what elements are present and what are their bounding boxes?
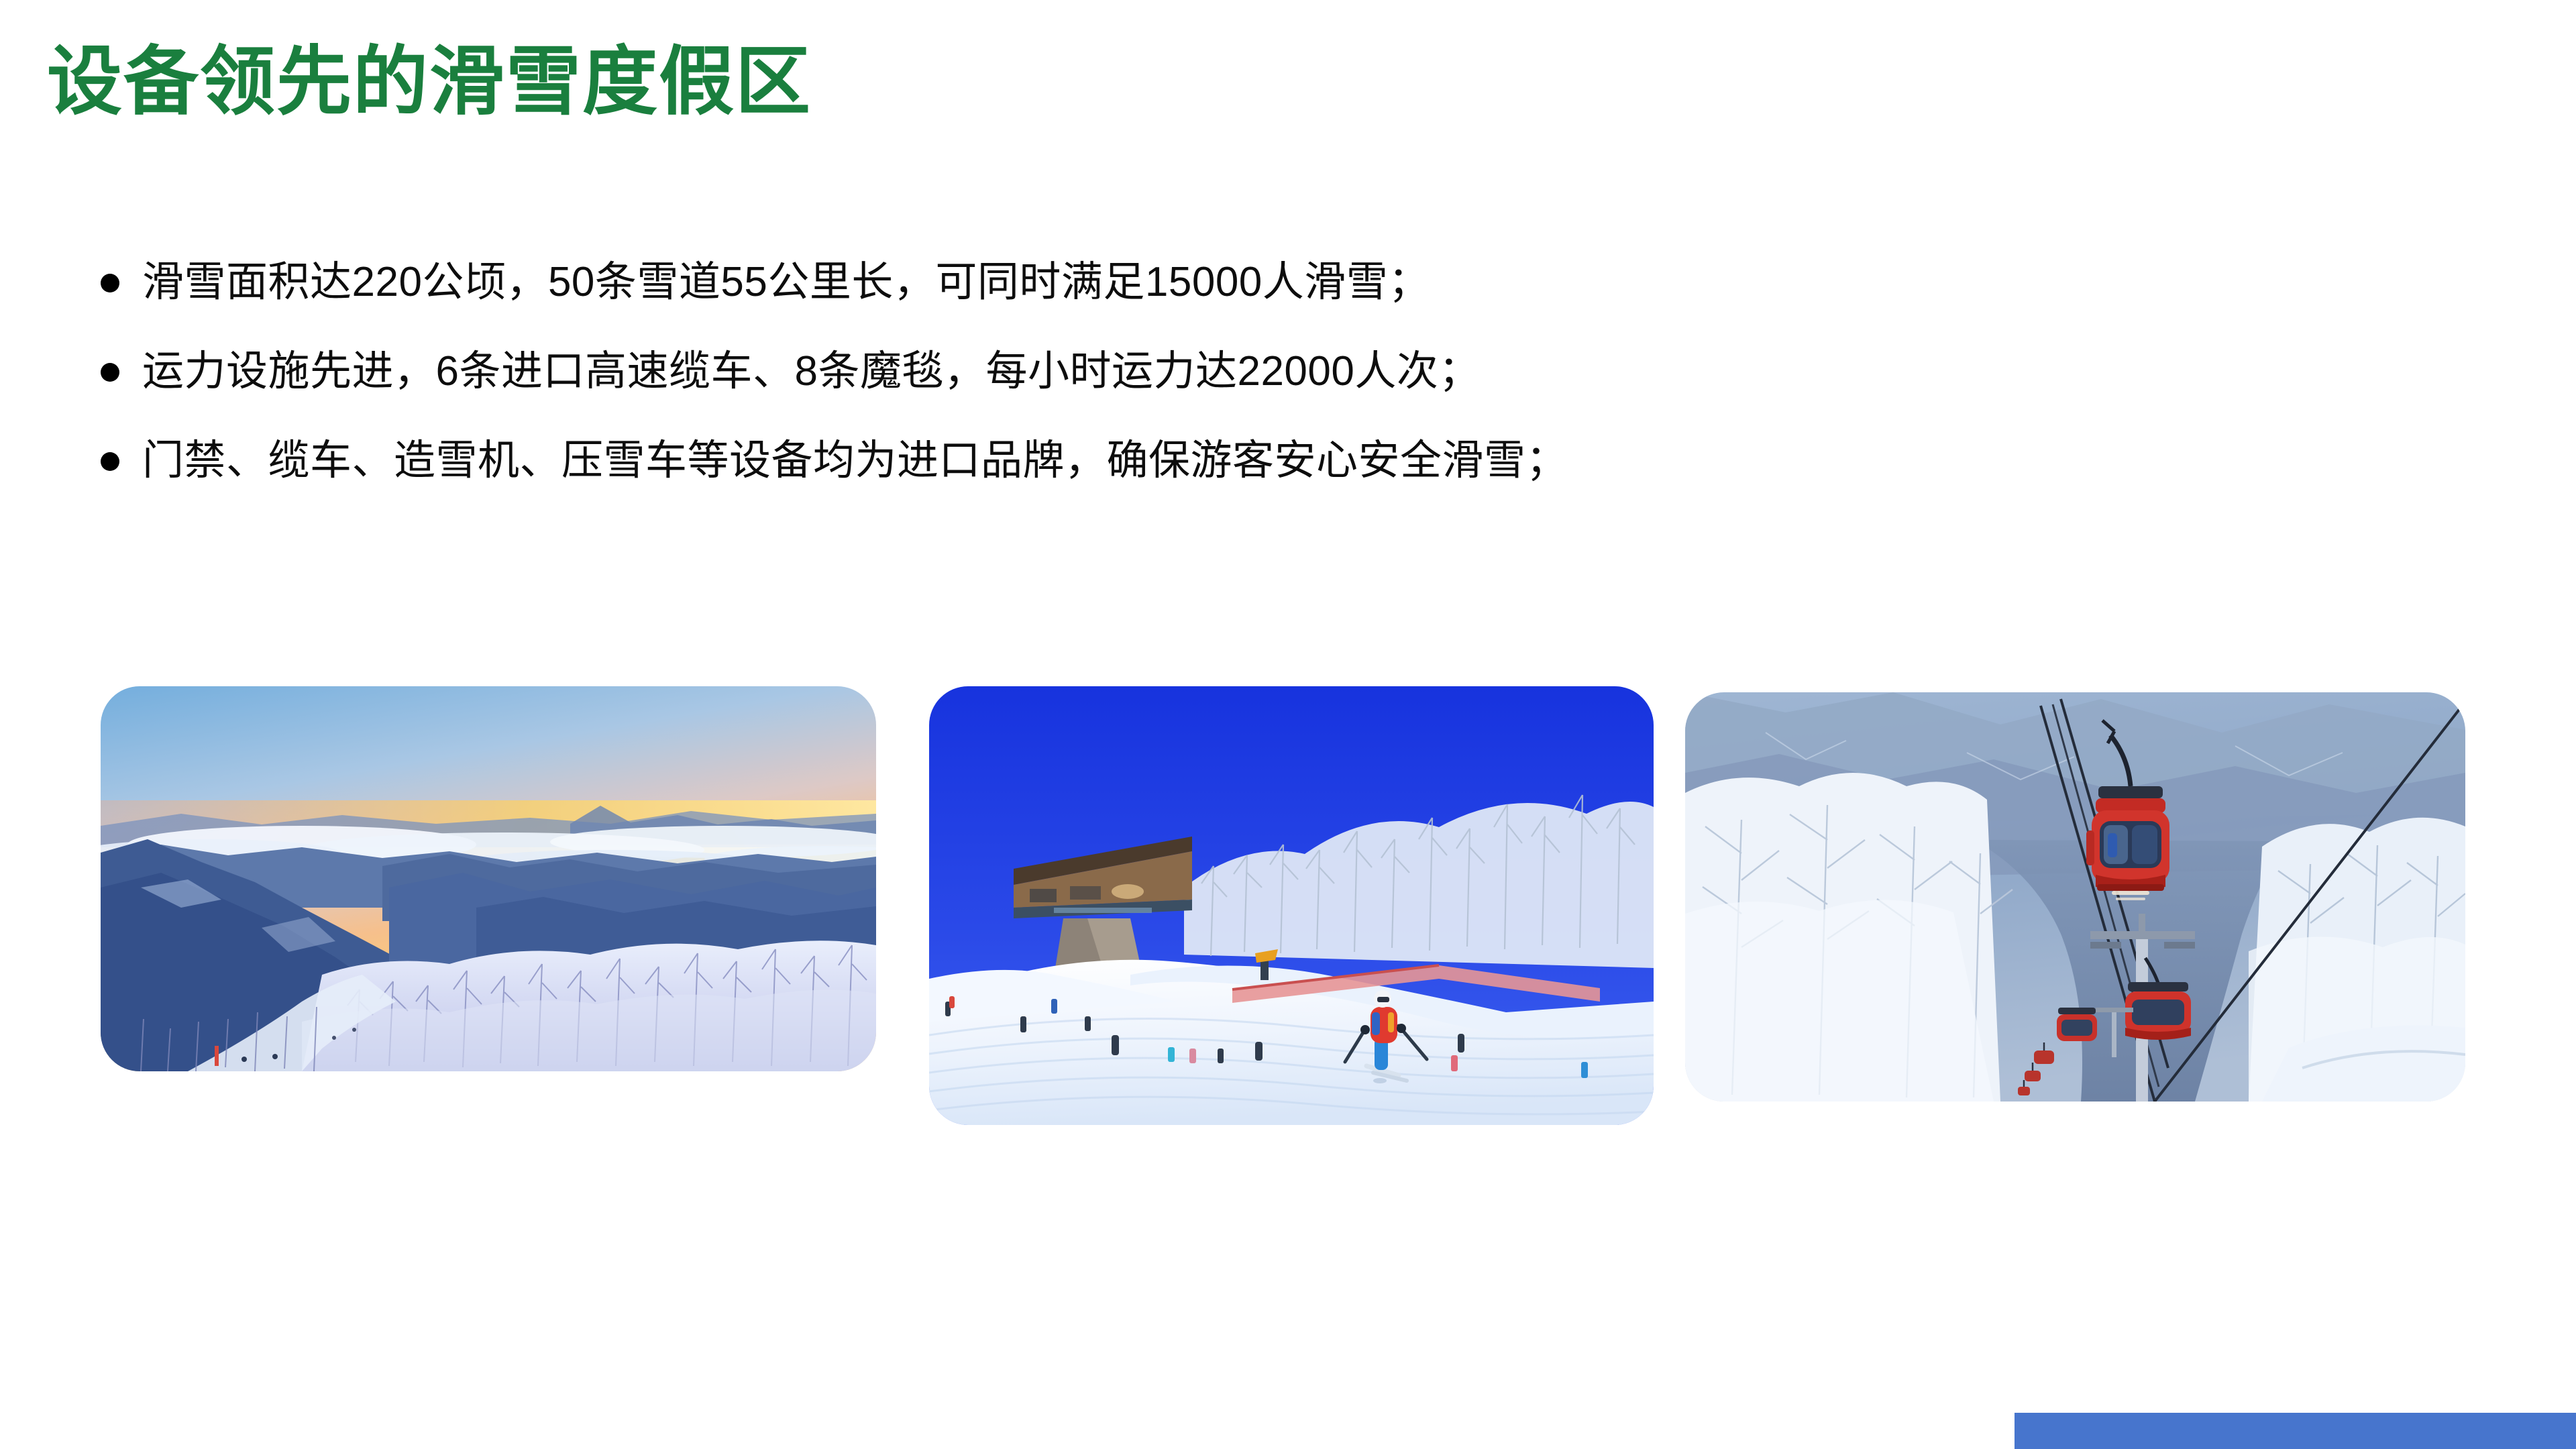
slide-canvas: 设备领先的滑雪度假区 滑雪面积达220公顷，50条雪道55公里长，可同时满足15…	[0, 0, 2576, 1449]
list-item-text: 滑雪面积达220公顷，50条雪道55公里长，可同时满足15000人滑雪；	[142, 255, 1430, 310]
bullet-list: 滑雪面积达220公顷，50条雪道55公里长，可同时满足15000人滑雪； 运力设…	[101, 255, 2449, 522]
photo-1-artwork	[101, 686, 876, 1071]
ski-slope-skiers-photo	[929, 686, 1654, 1125]
bottom-accent-bar	[2015, 1413, 2576, 1449]
bullet-point-icon	[101, 452, 119, 471]
page-title: 设备领先的滑雪度假区	[47, 35, 812, 129]
list-item: 运力设施先进，6条进口高速缆车、8条魔毯，每小时运力达22000人次；	[101, 344, 2449, 399]
photo-2-artwork	[929, 686, 1654, 1125]
list-item: 门禁、缆车、造雪机、压雪车等设备均为进口品牌，确保游客安心安全滑雪；	[101, 433, 2449, 488]
red-gondola-cable-car-photo	[1685, 692, 2465, 1102]
photo-3-artwork	[1685, 692, 2465, 1102]
bullet-point-icon	[101, 274, 119, 292]
sunset-mountain-sea-of-clouds-photo	[101, 686, 876, 1071]
list-item-text: 门禁、缆车、造雪机、压雪车等设备均为进口品牌，确保游客安心安全滑雪；	[142, 433, 1568, 488]
list-item-text: 运力设施先进，6条进口高速缆车、8条魔毯，每小时运力达22000人次；	[142, 344, 1481, 399]
list-item: 滑雪面积达220公顷，50条雪道55公里长，可同时满足15000人滑雪；	[101, 255, 2449, 310]
bullet-point-icon	[101, 363, 119, 382]
